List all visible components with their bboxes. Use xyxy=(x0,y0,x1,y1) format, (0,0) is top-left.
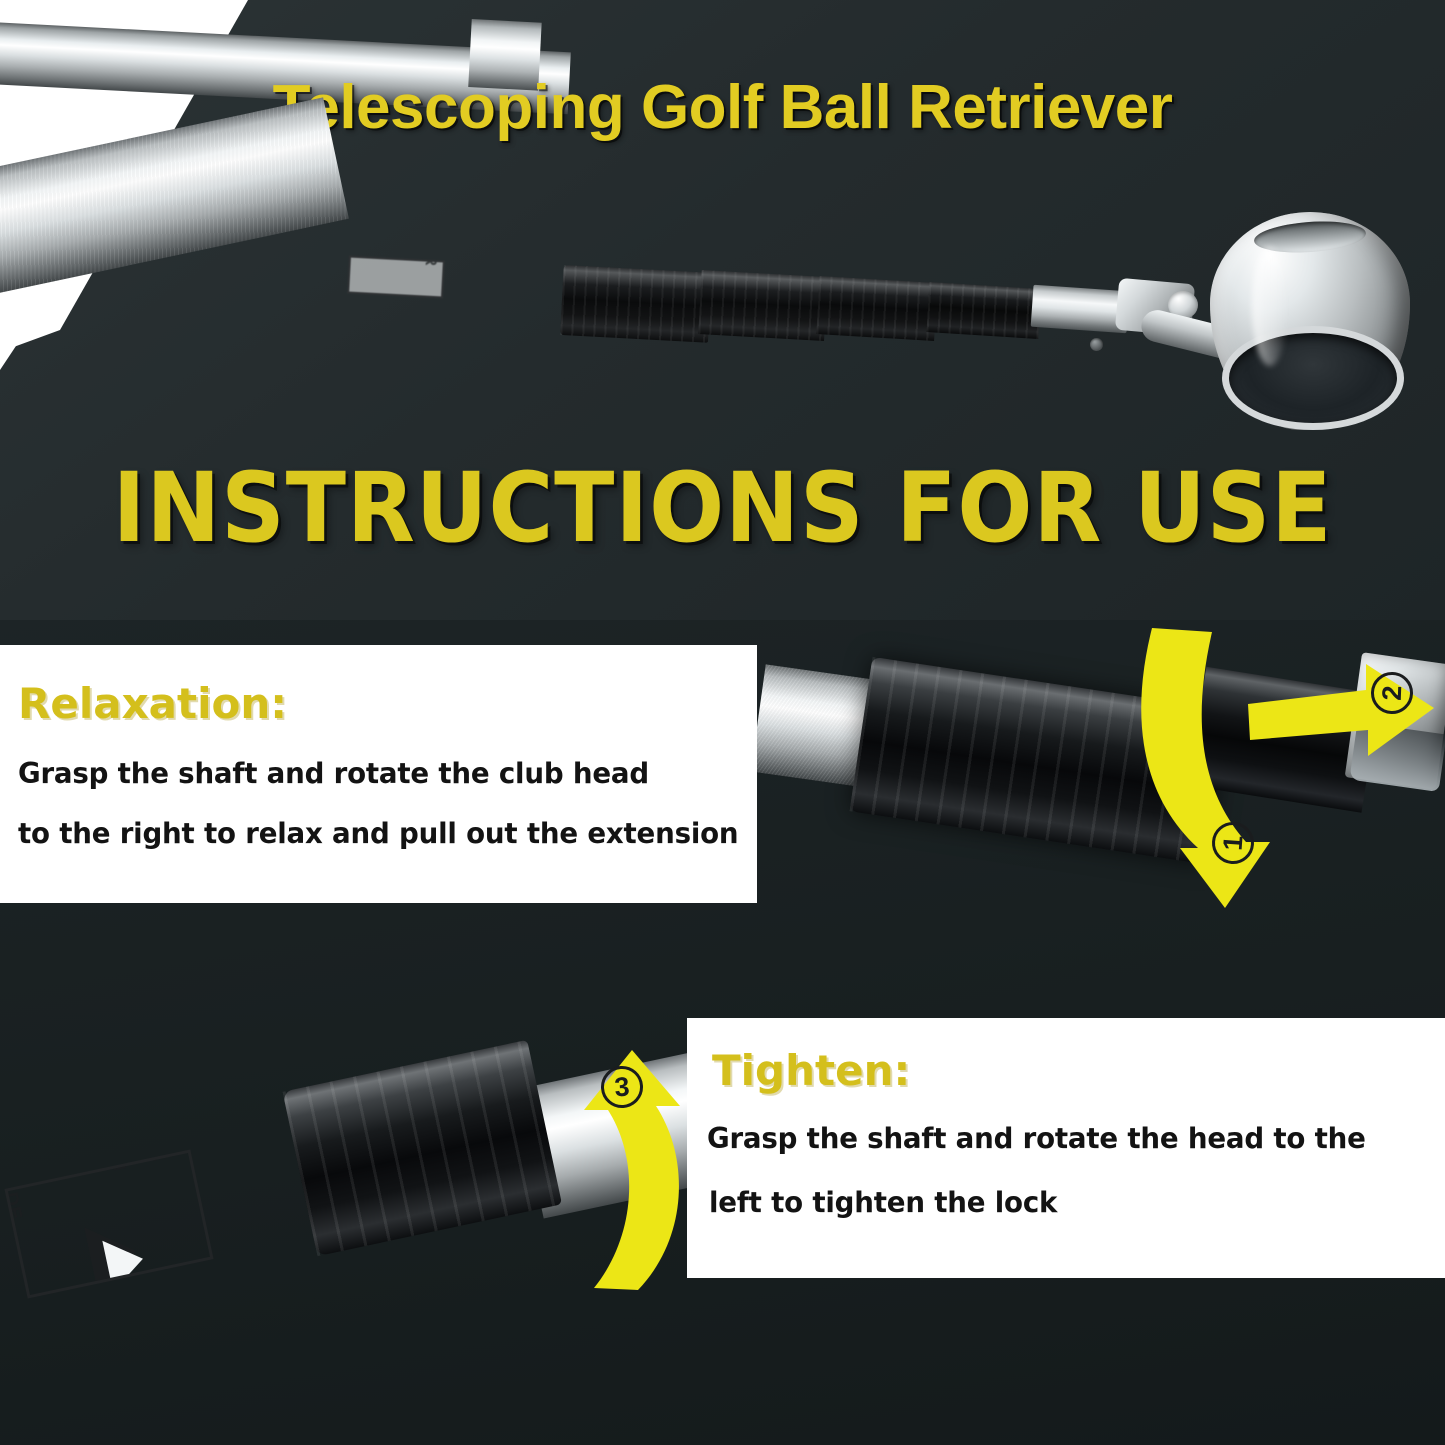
closeup-chrome-head-edge xyxy=(1349,722,1445,792)
telescoping-collar-3 xyxy=(816,276,937,341)
instruction-poster: ER Telescoping Golf Ball Retriever INSTR… xyxy=(0,0,1445,1445)
shaft-label-top: ER xyxy=(347,256,445,299)
product-photo-relaxation-closeup xyxy=(757,620,1445,920)
page-subtitle: INSTRUCTIONS FOR USE xyxy=(58,452,1387,564)
relaxation-body-line-2: to the right to relax and pull out the e… xyxy=(18,817,738,850)
instruction-card-tighten: Tighten: Grasp the shaft and rotate the … xyxy=(687,1018,1445,1278)
relaxation-heading: Relaxation: xyxy=(18,679,287,728)
chrome-shank xyxy=(1031,285,1130,334)
tighten-heading: Tighten: xyxy=(712,1046,910,1095)
tighten-body-line-1: Grasp the shaft and rotate the head to t… xyxy=(707,1122,1366,1155)
telescoping-collar-2 xyxy=(698,270,827,341)
ball-cup-highlight xyxy=(1252,246,1288,366)
telescoping-collar-1 xyxy=(560,265,711,343)
telescoping-collar-4 xyxy=(926,282,1041,339)
ball-cup-opening xyxy=(1222,326,1404,430)
closeup-lock-collar-ribs xyxy=(849,657,1228,864)
relaxation-body-line-1: Grasp the shaft and rotate the club head xyxy=(18,757,649,790)
instruction-card-relaxation: Relaxation: Grasp the shaft and rotate t… xyxy=(0,645,757,903)
tighten-body-line-2: left to tighten the lock xyxy=(709,1186,1057,1219)
